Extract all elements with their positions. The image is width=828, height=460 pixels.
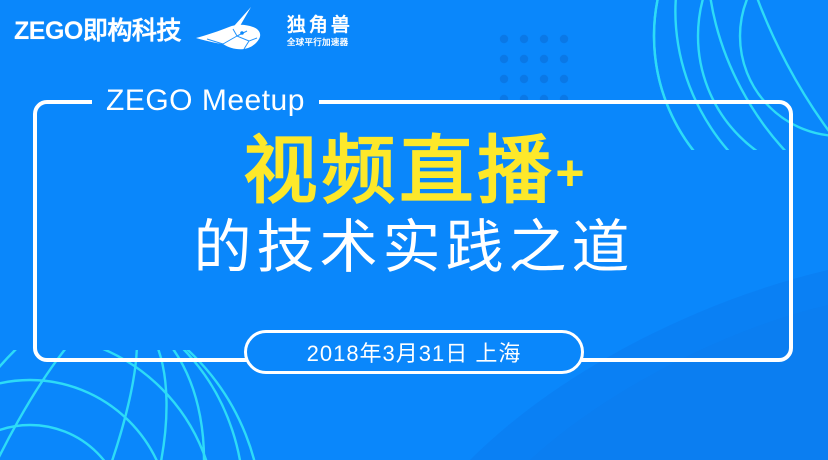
meetup-label: ZEGO Meetup	[92, 82, 319, 120]
poster-canvas: ZEGO即构科技	[0, 0, 828, 460]
partner-name: 独角兽	[287, 16, 353, 35]
partner-logo: 独角兽 全球平行加速器	[193, 5, 353, 58]
headline-main-text: 视频直播	[243, 132, 555, 210]
headline-block: 视频直播+ 的技术实践之道	[0, 132, 828, 279]
partner-subtitle: 全球平行加速器	[287, 38, 353, 47]
headline-main-line: 视频直播+	[243, 132, 584, 210]
headline-plus-sign: +	[555, 148, 584, 210]
unicorn-icon	[193, 5, 279, 58]
headline-sub-line: 的技术实践之道	[0, 216, 828, 280]
partner-text-block: 独角兽 全球平行加速器	[287, 16, 353, 47]
date-location-badge: 2018年3月31日 上海	[244, 330, 584, 374]
header-bar: ZEGO即构科技	[0, 0, 828, 62]
zego-brand-wordmark: ZEGO即构科技	[14, 19, 181, 44]
date-location-text: 2018年3月31日 上海	[307, 336, 522, 368]
